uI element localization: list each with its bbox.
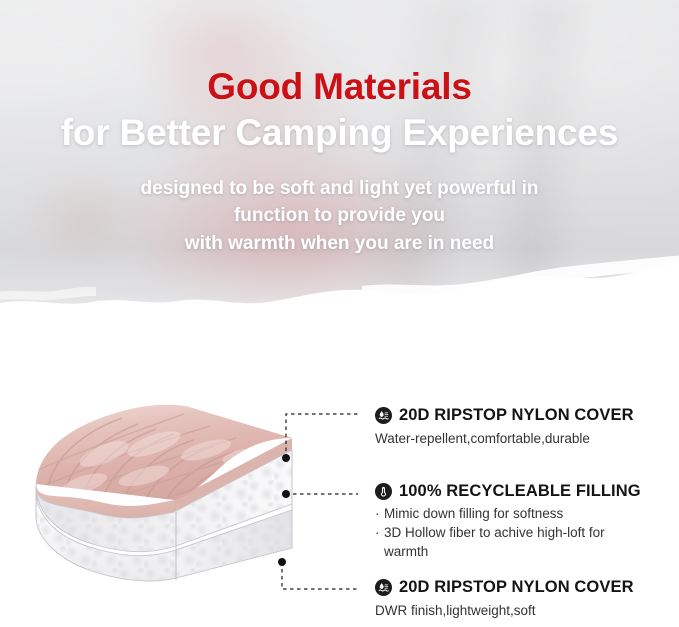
hero-banner: Good Materials for Better Camping Experi… — [0, 0, 679, 330]
thermometer-icon — [375, 483, 392, 500]
feature-title: 20D RIPSTOP NYLON COVER — [399, 406, 634, 424]
feature-subtitle: Water-repellent,comfortable,durable — [375, 429, 634, 448]
hero-subtitle-line-3: with warmth when you are in need — [0, 230, 679, 257]
bullet-marker: · — [375, 505, 380, 524]
feature-callout-recycleable-filling: 100% RECYCLEABLE FILLING · Mimic down fi… — [375, 482, 643, 562]
bullet-marker: · — [375, 524, 380, 543]
hero-subtitle-line-1: designed to be soft and light yet powerf… — [0, 175, 679, 202]
feature-title: 20D RIPSTOP NYLON COVER — [399, 578, 634, 596]
water-repellent-icon — [375, 579, 392, 596]
feature-bullet-text: Mimic down filling for softness — [384, 506, 563, 521]
feature-title: 100% RECYCLEABLE FILLING — [399, 482, 641, 500]
feature-callout-nylon-cover-bottom: 20D RIPSTOP NYLON COVER DWR finish,light… — [375, 578, 634, 620]
hero-title-line-2: for Better Camping Experiences — [0, 113, 679, 153]
feature-bullet-item: · Mimic down filling for softness — [375, 505, 643, 524]
hero-text-block: Good Materials for Better Camping Experi… — [0, 0, 679, 257]
hero-subtitle: designed to be soft and light yet powerf… — [0, 175, 679, 257]
hero-title-line-1: Good Materials — [0, 68, 679, 107]
hero-subtitle-line-2: function to provide you — [0, 202, 679, 229]
feature-callout-nylon-cover-top: 20D RIPSTOP NYLON COVER Water-repellent,… — [375, 406, 634, 448]
product-cutaway-illustration — [14, 392, 314, 582]
water-repellent-icon — [375, 407, 392, 424]
feature-bullet-text: 3D Hollow fiber to achive high-loft for … — [384, 525, 605, 559]
feature-subtitle: DWR finish,lightweight,soft — [375, 601, 634, 620]
feature-bullet-item: · 3D Hollow fiber to achive high-loft fo… — [375, 524, 643, 562]
features-section: 20D RIPSTOP NYLON COVER Water-repellent,… — [0, 330, 679, 627]
feature-bullet-list: · Mimic down filling for softness · 3D H… — [375, 505, 643, 562]
